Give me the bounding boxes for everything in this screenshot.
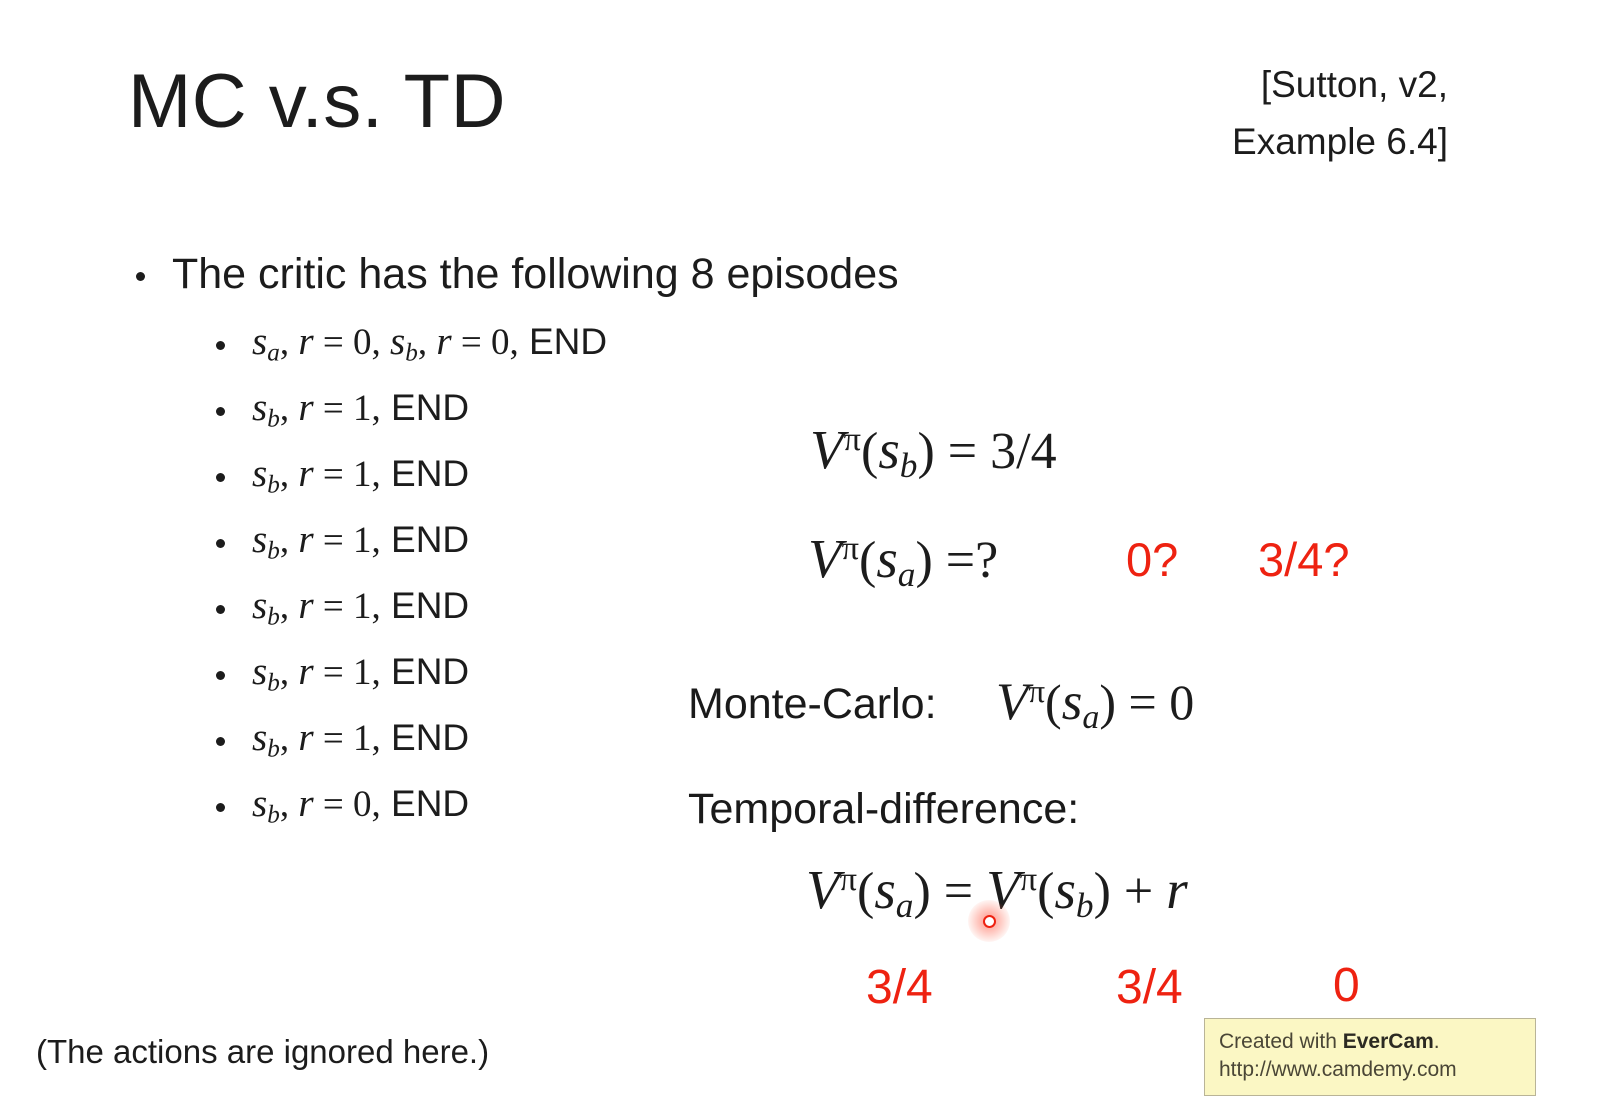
watermark-brand: EverCam [1343, 1030, 1434, 1053]
bullet-dot-icon [216, 737, 225, 746]
slide-canvas: MC v.s. TD [Sutton, v2, Example 6.4] The… [0, 0, 1600, 1120]
citation-line-2: Example 6.4] [1232, 113, 1448, 170]
equation-v-sb: Vπ(sb) = 3/4 [810, 418, 1057, 486]
episode-expression: sb, r = 1, END [252, 517, 469, 566]
episode-expression: sb, r = 1, END [252, 715, 469, 764]
page-title: MC v.s. TD [128, 58, 506, 145]
equation-v-sa: Vπ(sa) =? [808, 527, 998, 595]
episode-expression: sb, r = 0, END [252, 781, 469, 830]
bullet-dot-icon [216, 473, 225, 482]
bullet-dot-icon [216, 671, 225, 680]
bullet-dot-icon [216, 605, 225, 614]
footnote-text: (The actions are ignored here.) [36, 1033, 489, 1071]
bullet-dot-icon [216, 803, 225, 812]
list-item: sb, r = 1, END [216, 451, 828, 517]
td-annotation-mid: 3/4 [1116, 960, 1183, 1015]
choice-option-zero: 0? [1126, 532, 1178, 587]
episode-list: sa, r = 0, sb, r = 0, END sb, r = 1, END… [128, 319, 828, 847]
list-item: sa, r = 0, sb, r = 0, END [216, 319, 828, 385]
episode-expression: sb, r = 1, END [252, 385, 469, 434]
watermark-suffix: . [1434, 1030, 1440, 1053]
v-sb-value: 3/4 [990, 423, 1056, 480]
evercam-watermark: Created with EverCam. http://www.camdemy… [1204, 1018, 1536, 1096]
bullet-dot-icon [136, 272, 145, 281]
bullet-dot-icon [216, 341, 225, 350]
bullet-dot-icon [216, 407, 225, 416]
bullet-dot-icon [216, 539, 225, 548]
episode-expression: sa, r = 0, sb, r = 0, END [252, 319, 607, 368]
td-annotation-left: 3/4 [866, 960, 933, 1015]
choice-option-three-quarters: 3/4? [1258, 532, 1349, 587]
list-item: sb, r = 1, END [216, 385, 828, 451]
citation-line-1: [Sutton, v2, [1232, 56, 1448, 113]
episode-expression: sb, r = 1, END [252, 451, 469, 500]
td-annotation-right: 0 [1333, 958, 1360, 1013]
watermark-prefix: Created with [1219, 1030, 1343, 1053]
main-bullet-label: The critic has the following 8 episodes [172, 250, 899, 298]
list-item: sb, r = 1, END [216, 583, 828, 649]
citation-reference: [Sutton, v2, Example 6.4] [1232, 56, 1448, 171]
list-item: sb, r = 1, END [216, 517, 828, 583]
episode-expression: sb, r = 1, END [252, 649, 469, 698]
v-sa-value: ? [975, 532, 998, 589]
monte-carlo-value: 0 [1169, 674, 1194, 730]
episode-expression: sb, r = 1, END [252, 583, 469, 632]
left-content-column: The critic has the following 8 episodes … [128, 252, 828, 847]
equation-temporal-difference: Vπ(sa) = Vπ(sb) + r [806, 858, 1188, 926]
main-bullet-item: The critic has the following 8 episodes [128, 252, 828, 297]
monte-carlo-label: Monte-Carlo: [688, 680, 937, 729]
watermark-url[interactable]: http://www.camdemy.com [1219, 1056, 1523, 1084]
equation-monte-carlo: Vπ(sa) = 0 [996, 672, 1194, 737]
temporal-difference-label: Temporal-difference: [688, 785, 1079, 834]
